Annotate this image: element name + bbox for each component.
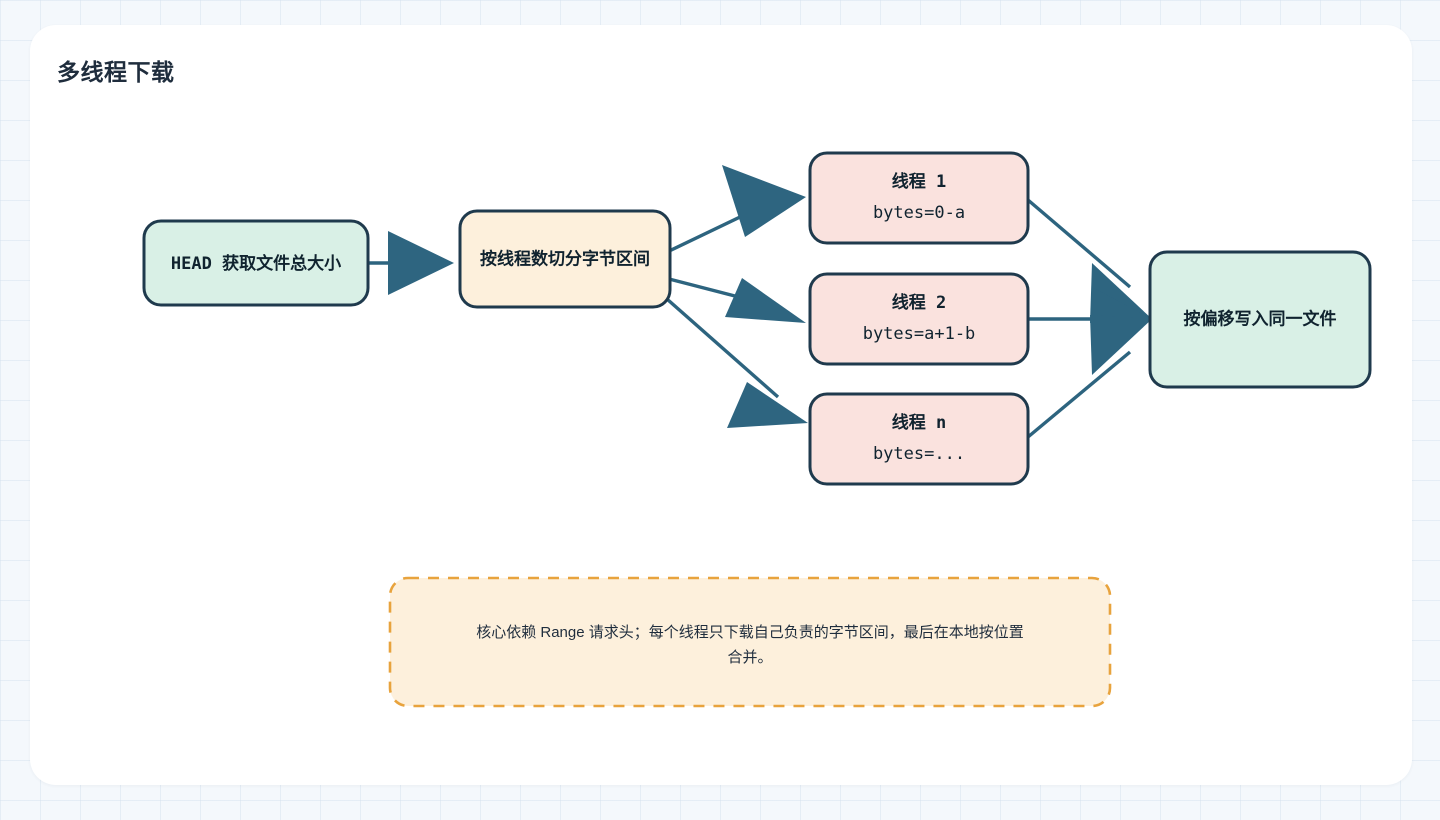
thread-2-node-range: bytes=a+1-b (863, 324, 976, 344)
edge-thread-n-to-merge (1028, 315, 1152, 437)
write-offset-node[interactable]: 按偏移写入同一文件 (1150, 252, 1370, 387)
range-note-box (390, 578, 1110, 706)
edge-head-to-split (368, 231, 454, 295)
head-request-node-label: HEAD 获取文件总大小 (171, 253, 341, 274)
thread-1-node-box (810, 153, 1028, 243)
thread-1-node-label: 线程 1 (892, 171, 946, 192)
range-note-line-1: 核心依赖 Range 请求头；每个线程只下载自己负责的字节区间，最后在本地按位置 (476, 624, 1024, 641)
head-request-node[interactable]: HEAD 获取文件总大小 (144, 221, 368, 305)
split-ranges-node[interactable]: 按线程数切分字节区间 (460, 211, 670, 307)
write-offset-node-label: 按偏移写入同一文件 (1184, 308, 1337, 328)
diagram-card: 多线程下载 (30, 25, 1412, 785)
thread-n-node-label: 线程 n (892, 412, 946, 433)
range-note: 核心依赖 Range 请求头；每个线程只下载自己负责的字节区间，最后在本地按位置… (390, 578, 1110, 706)
thread-2-node-box (810, 274, 1028, 364)
thread-1-node-range: bytes=0-a (873, 203, 965, 223)
flowchart: HEAD 获取文件总大小 按线程数切分字节区间 线程 1 bytes=0-a 线… (30, 25, 1412, 785)
thread-1-node[interactable]: 线程 1 bytes=0-a (810, 153, 1028, 243)
thread-2-node-label: 线程 2 (892, 292, 946, 313)
thread-2-node[interactable]: 线程 2 bytes=a+1-b (810, 274, 1028, 364)
thread-n-node[interactable]: 线程 n bytes=... (810, 394, 1028, 484)
thread-n-node-range: bytes=... (873, 444, 965, 464)
split-ranges-node-label: 按线程数切分字节区间 (480, 248, 650, 268)
range-note-line-2: 合并。 (727, 649, 772, 666)
edge-thread-1-to-merge (1028, 200, 1152, 323)
thread-n-node-box (810, 394, 1028, 484)
